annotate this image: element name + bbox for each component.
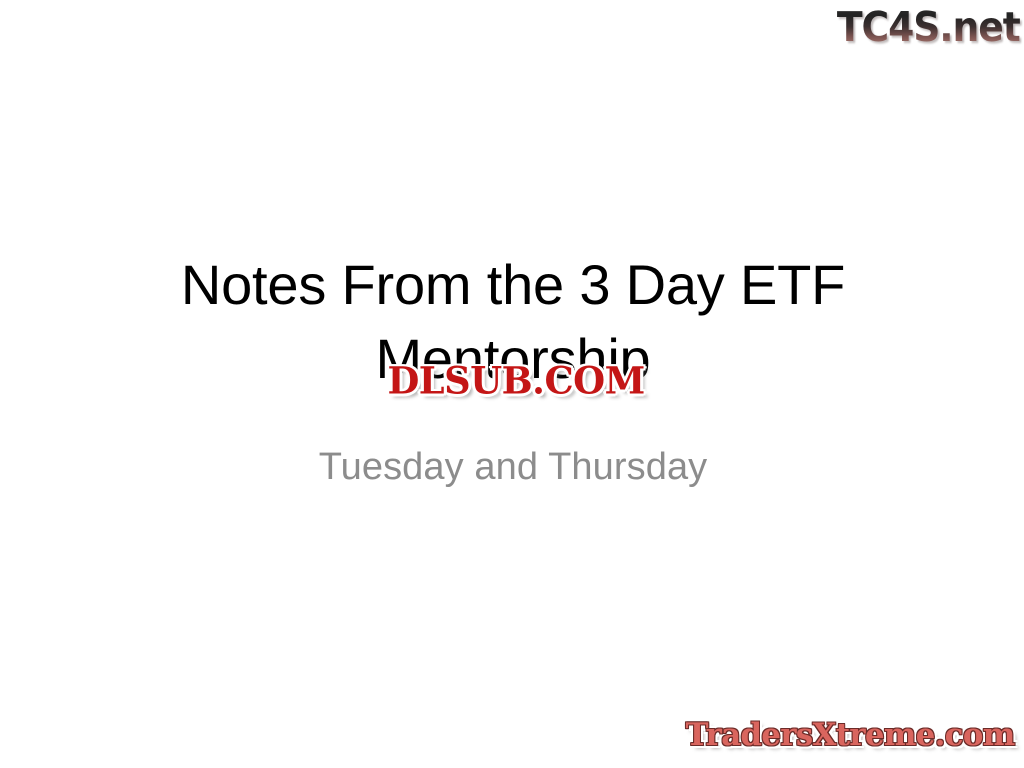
tradersxtreme-watermark: TradersXtreme.com — [684, 712, 1016, 758]
dlsub-watermark: DLSUB.COM — [366, 358, 666, 404]
tradersxtreme-watermark-text: TradersXtreme.com — [685, 720, 1014, 751]
slide-subtitle-block: Tuesday and Thursday — [158, 443, 868, 492]
dlsub-watermark-text: DLSUB.COM — [387, 362, 644, 399]
slide-subtitle: Tuesday and Thursday — [158, 443, 868, 492]
presentation-slide: TC4S.net Notes From the 3 Day ETF Mentor… — [0, 0, 1024, 768]
tc4s-site-logo: TC4S.net — [828, 2, 1020, 52]
tc4s-site-logo-text: TC4S.net — [837, 7, 1020, 48]
